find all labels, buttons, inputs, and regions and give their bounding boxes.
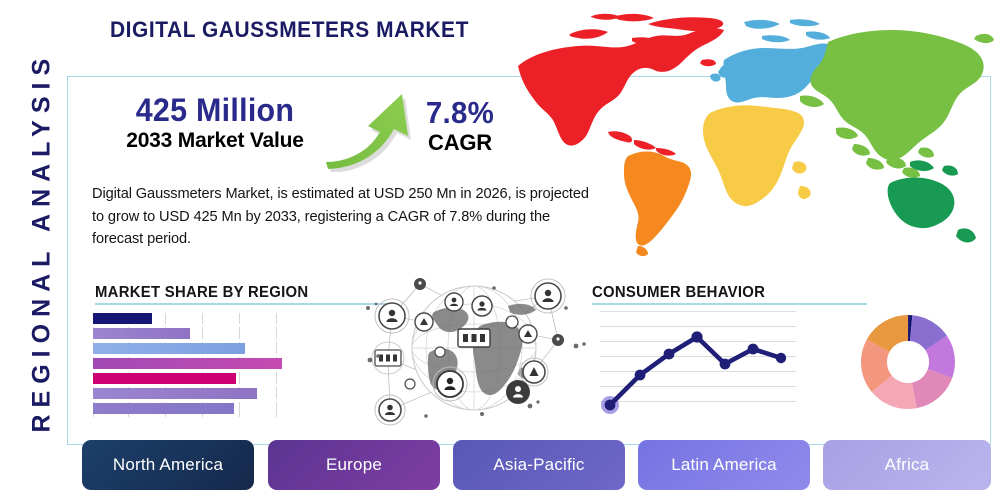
market-share-bar-chart — [93, 313, 303, 417]
region-button-north-america[interactable]: North America — [82, 440, 254, 490]
world-map-icon — [506, 8, 998, 270]
region-button-label: North America — [113, 455, 223, 475]
bar-row — [93, 373, 236, 384]
bar-row — [93, 403, 234, 414]
region-button-label: Latin America — [671, 455, 777, 475]
region-button-label: Asia-Pacific — [493, 455, 584, 475]
page-title: DIGITAL GAUSSMETERS MARKET — [110, 17, 469, 43]
region-button-latin-america[interactable]: Latin America — [638, 440, 810, 490]
bar-row — [93, 313, 152, 324]
kpi-cagr-number: 7.8% — [403, 96, 517, 130]
kpi-row: 425 Million 2033 Market Value 7.8% CAGR — [90, 92, 510, 170]
region-button-label: Africa — [885, 455, 930, 475]
growth-arrow-icon — [322, 88, 412, 172]
bar-row — [93, 358, 282, 369]
bar-row — [93, 328, 190, 339]
consumer-behavior-line-chart — [600, 311, 796, 415]
region-button-europe[interactable]: Europe — [268, 440, 440, 490]
kpi-cagr-label: CAGR — [400, 130, 520, 156]
segment-donut-chart — [856, 310, 960, 414]
kpi-market-value-label: 2033 Market Value — [100, 128, 330, 154]
vertical-section-label: REGIONAL ANALYSIS — [28, 53, 57, 433]
bar-row — [93, 343, 245, 354]
region-button-asia-pacific[interactable]: Asia-Pacific — [453, 440, 625, 490]
kpi-market-value: 425 Million 2033 Market Value — [100, 92, 330, 154]
kpi-market-value-number: 425 Million — [106, 92, 325, 128]
bar-row — [93, 388, 257, 399]
infographic-root: REGIONAL ANALYSIS DIGITAL GAUSSMETERS MA… — [0, 0, 1000, 500]
section-rule-consumer-behavior — [592, 303, 867, 305]
region-button-row: North America Europe Asia-Pacific Latin … — [82, 440, 992, 490]
region-button-africa[interactable]: Africa — [823, 440, 991, 490]
region-button-label: Europe — [326, 455, 382, 475]
global-network-icon — [362, 272, 588, 428]
section-header-market-share: MARKET SHARE BY REGION — [95, 284, 308, 302]
section-rule-market-share — [95, 303, 395, 305]
kpi-cagr: 7.8% CAGR — [400, 96, 520, 156]
section-header-consumer-behavior: CONSUMER BEHAVIOR — [592, 284, 765, 302]
